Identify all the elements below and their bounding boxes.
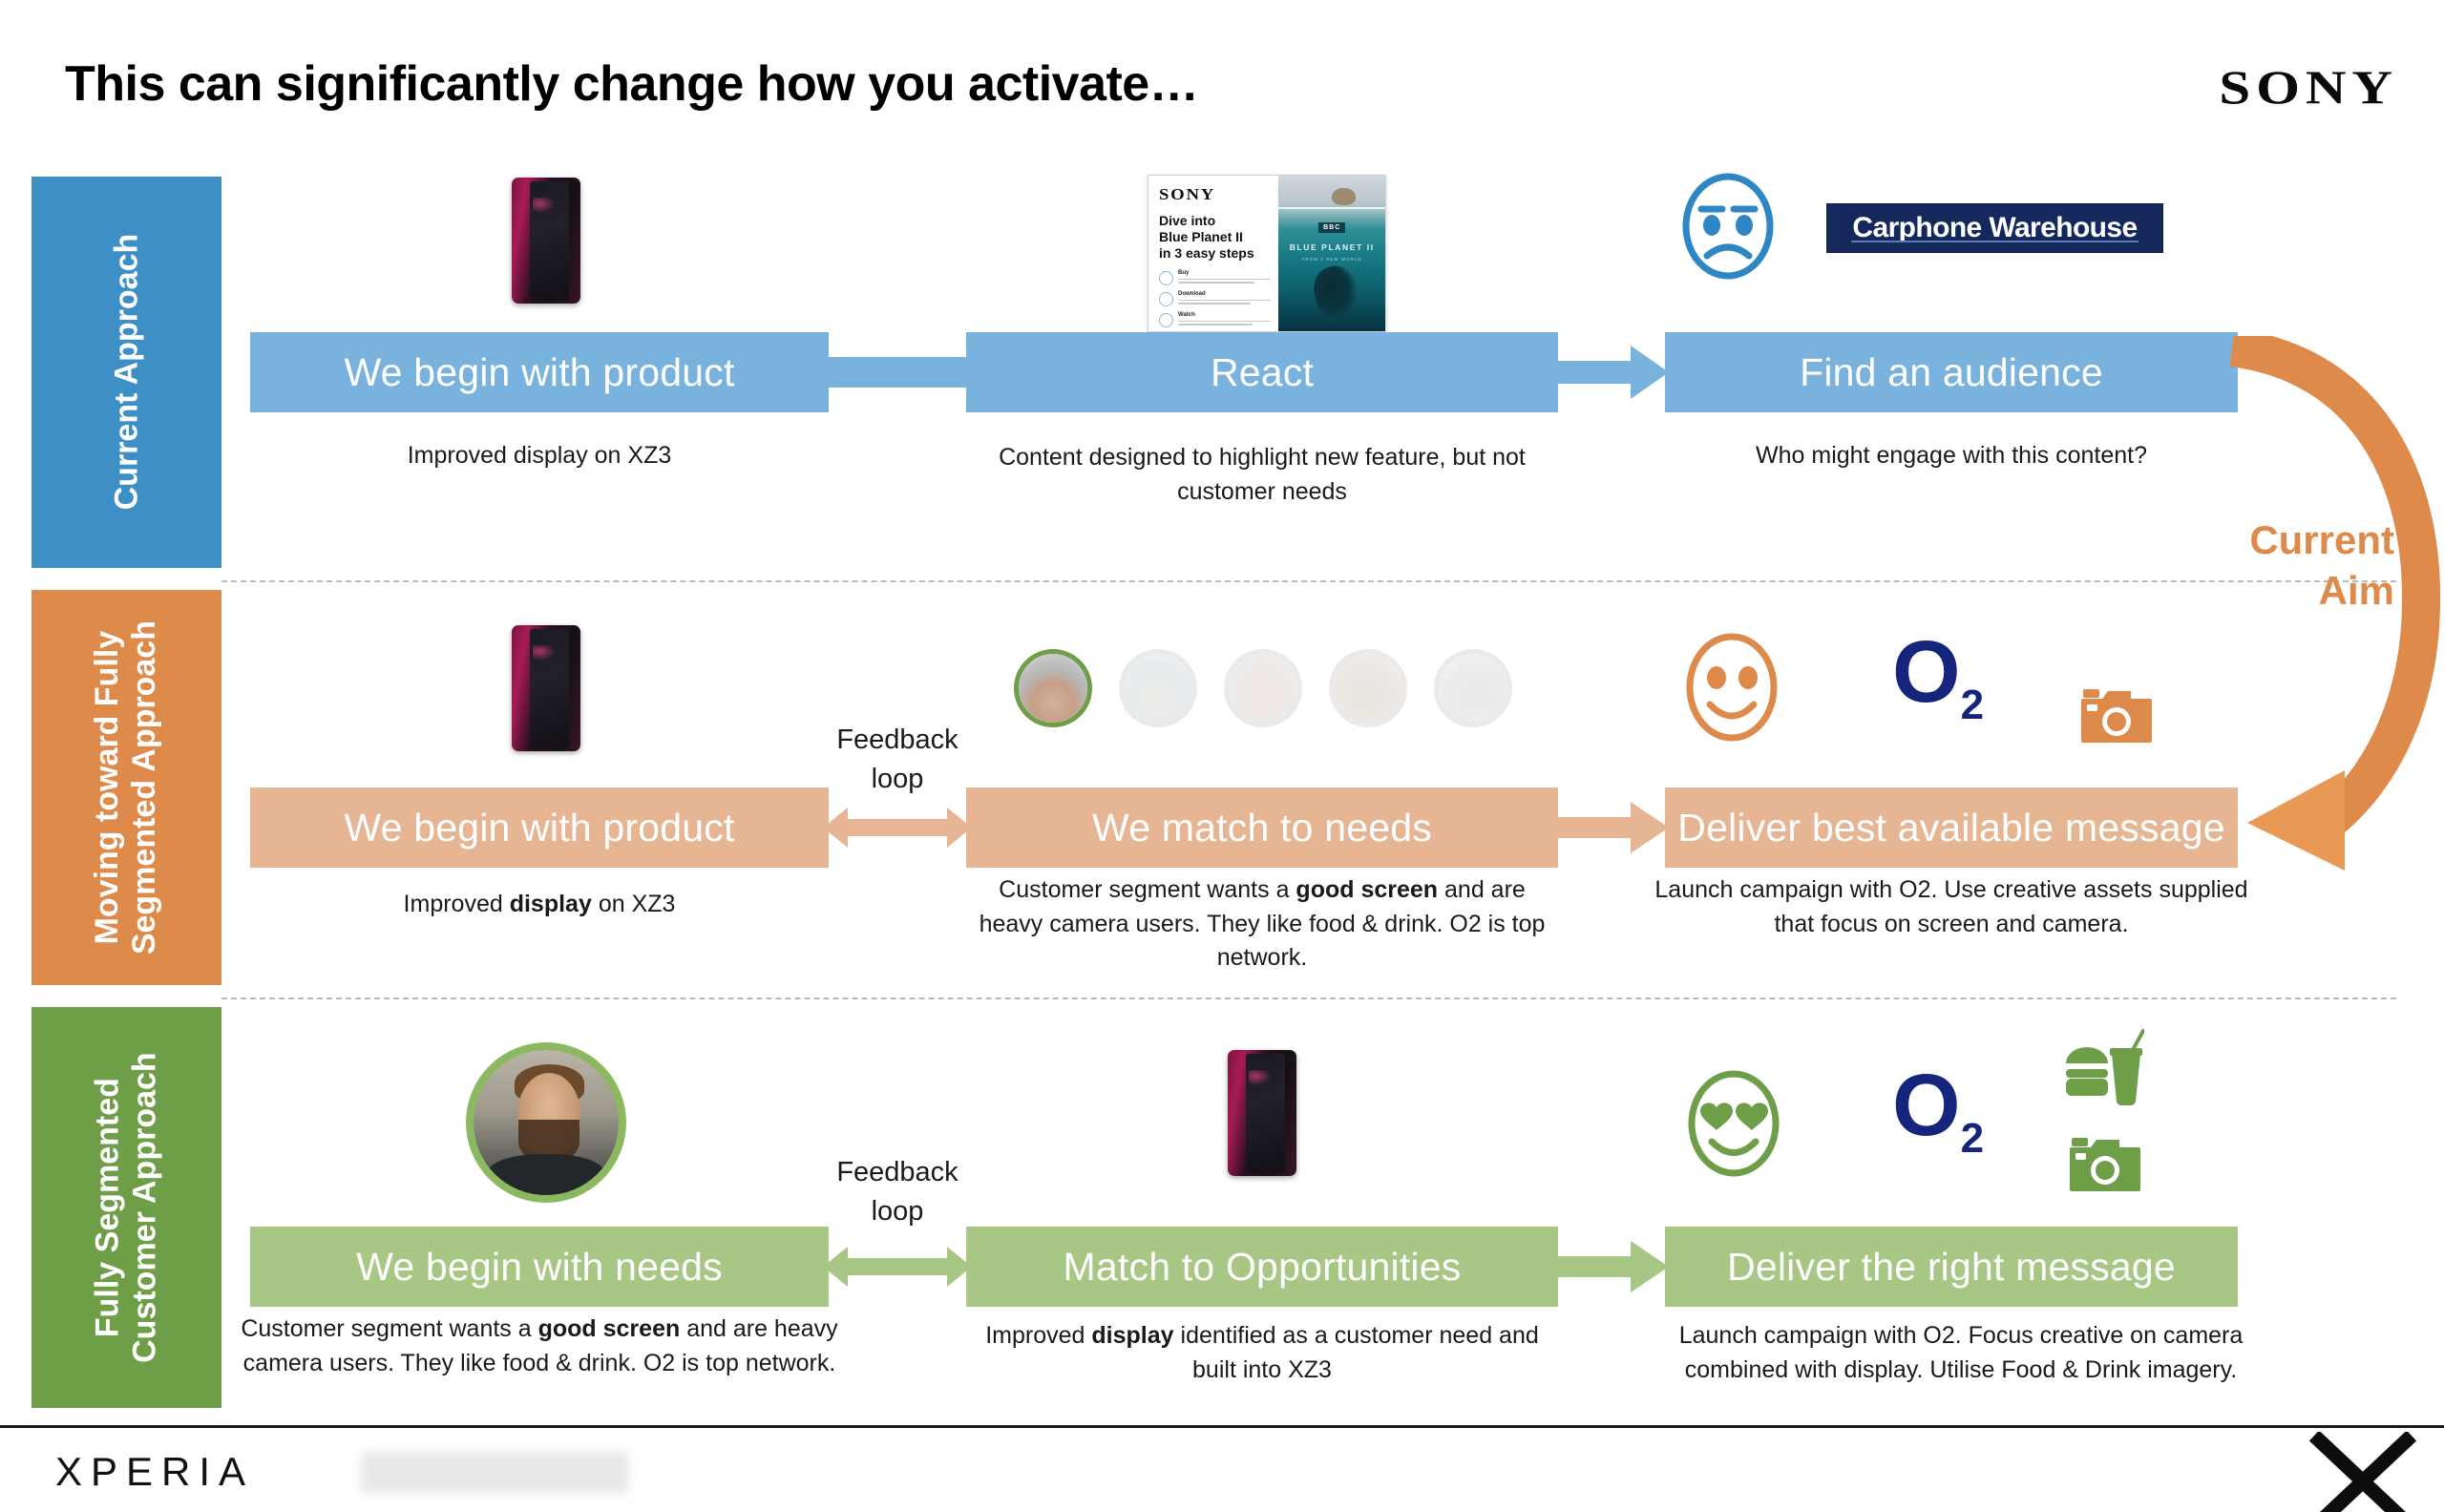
row-divider-1: [221, 580, 2396, 582]
caption-text-bold: good screen: [1296, 876, 1438, 903]
o2-network-logo: O2: [1892, 1071, 1984, 1163]
poster-subtitle: FROM A NEW WORLD: [1278, 257, 1385, 262]
blue-planet-brochure-image: SONY Dive into Blue Planet II in 3 easy …: [1148, 175, 1386, 332]
process-bar-label: Deliver best available message: [1677, 806, 2224, 850]
process-bar-we-begin-with-product-2[interactable]: We begin with product: [250, 787, 829, 868]
smiley-face-icon: [1680, 630, 1783, 749]
caption-row3-step-1: Customer segment wants a good screen and…: [241, 1312, 838, 1380]
xperia-wordmark: XPERIA: [55, 1449, 254, 1495]
heart-eyes-face-icon: [1682, 1067, 1785, 1185]
o2-letter: O: [1892, 1057, 1961, 1154]
caption-row3-step-3: Launch campaign with O2. Focus creative …: [1665, 1319, 2257, 1387]
caption-text-post: identified as a customer need and built …: [1174, 1322, 1539, 1383]
xperia-x-mark-icon: [2307, 1432, 2419, 1512]
play-icon: [1159, 313, 1173, 327]
process-bar-match-to-opportunities[interactable]: Match to Opportunities: [966, 1227, 1558, 1307]
o2-letter: O: [1892, 623, 1961, 721]
caption-text-post: on XZ3: [592, 891, 676, 917]
blue-planet-poster: BBC BLUE PLANET II FROM A NEW WORLD: [1278, 176, 1385, 331]
process-bar-we-begin-with-product[interactable]: We begin with product: [250, 332, 829, 412]
o2-subscript: 2: [1961, 1115, 1984, 1162]
caption-text: Launch campaign with O2. Focus creative …: [1679, 1322, 2244, 1383]
customer-photo-avatar: [466, 1042, 626, 1203]
row-divider-2: [221, 997, 2396, 999]
brochure-step-label: Watch: [1178, 312, 1271, 319]
process-bar-label: We begin with product: [344, 350, 734, 395]
process-bar-deliver-the-right-message[interactable]: Deliver the right message: [1665, 1227, 2238, 1307]
brochure-sony-logo: SONY: [1159, 185, 1282, 204]
poster-title: BLUE PLANET II: [1278, 242, 1385, 252]
process-bar-react[interactable]: React: [966, 332, 1558, 412]
feedback-loop-arrow-row3: [823, 1243, 972, 1295]
brochure-step-label: Download: [1178, 291, 1271, 298]
caption-step-1: Improved display on XZ3: [250, 439, 829, 473]
download-icon: [1159, 292, 1173, 306]
process-bar-deliver-best-available-message[interactable]: Deliver best available message: [1665, 787, 2238, 868]
caption-text-line-2: customer needs: [1177, 478, 1347, 505]
phone-outline-icon: [1159, 271, 1173, 285]
process-bar-label: We begin with product: [344, 806, 734, 850]
process-bar-label: Match to Opportunities: [1064, 1245, 1462, 1290]
caption-text-pre: Improved: [404, 891, 510, 917]
caption-row2-step-2: Customer segment wants a good screen and…: [966, 873, 1558, 976]
connector-arrow-row2-2-to-3: [1552, 802, 1669, 858]
caption-text-pre: Customer segment wants a: [241, 1315, 537, 1342]
caption-text-line-1: Content designed to highlight new featur…: [999, 444, 1526, 471]
camera-icon: [2081, 685, 2152, 749]
process-bar-label: We begin with needs: [356, 1245, 723, 1290]
xperia-phone-image: [512, 625, 580, 751]
sad-face-icon: [1676, 170, 1780, 287]
caption-text: Improved display on XZ3: [408, 442, 672, 469]
carphone-warehouse-logo: Carphone Warehouse: [1826, 203, 2163, 253]
connector-arrow-2-to-3: [1552, 346, 1669, 404]
brochure-headline-3: in 3 easy steps: [1159, 245, 1254, 261]
caption-text-bold: display: [510, 891, 592, 917]
food-drink-icon: [2062, 1029, 2144, 1112]
slide-canvas: This can significantly change how you ac…: [0, 0, 2444, 1512]
camera-icon: [2070, 1134, 2140, 1198]
xperia-phone-image: [1228, 1050, 1296, 1176]
bbc-badge: BBC: [1318, 222, 1345, 233]
footer-redacted-block: [361, 1452, 628, 1494]
caption-text: Launch campaign with O2. Use creative as…: [1654, 876, 2247, 937]
caption-row2-step-3: Launch campaign with O2. Use creative as…: [1644, 873, 2259, 941]
process-bar-label: Deliver the right message: [1727, 1245, 2176, 1290]
caption-text: Who might engage with this content?: [1756, 442, 2147, 469]
brochure-step: Buy: [1159, 270, 1271, 285]
sony-logo: SONY: [2219, 59, 2398, 115]
caption-text-pre: Improved: [985, 1322, 1091, 1349]
caption-text-pre: Customer segment wants a: [999, 876, 1296, 903]
avatar: [1119, 649, 1197, 727]
footer-divider: [0, 1425, 2444, 1428]
brochure-headline-1: Dive into: [1159, 213, 1215, 228]
feedback-loop-label-row3: Feedback loop: [823, 1153, 972, 1231]
brochure-headline-2: Blue Planet II: [1159, 229, 1243, 244]
brochure-step: Download: [1159, 291, 1271, 306]
row-band-label: Fully Segmented Customer Approach: [89, 1052, 163, 1363]
process-bar-we-begin-with-needs[interactable]: We begin with needs: [250, 1227, 829, 1307]
process-bar-label: We match to needs: [1092, 806, 1432, 850]
avatar: [1014, 649, 1092, 727]
o2-subscript: 2: [1961, 682, 1984, 728]
connector-arrow-1-to-2: [823, 357, 972, 392]
brochure-step-label: Buy: [1178, 270, 1271, 277]
connector-arrow-row3-2-to-3: [1552, 1241, 1669, 1297]
page-title: This can significantly change how you ac…: [65, 55, 1198, 113]
caption-row3-step-2: Improved display identified as a custome…: [966, 1319, 1558, 1387]
carphone-warehouse-label: Carphone Warehouse: [1852, 212, 2137, 244]
process-bar-find-an-audience[interactable]: Find an audience: [1665, 332, 2238, 412]
caption-step-3: Who might engage with this content?: [1665, 439, 2238, 473]
feedback-loop-arrow-row2: [823, 804, 972, 856]
avatar: [1329, 649, 1407, 727]
caption-text-bold: display: [1091, 1322, 1173, 1349]
process-bar-label: React: [1211, 350, 1314, 395]
o2-network-logo: O2: [1892, 638, 1984, 729]
caption-text-bold: good screen: [538, 1315, 681, 1342]
process-bar-we-match-to-needs[interactable]: We match to needs: [966, 787, 1558, 868]
xperia-phone-image: [512, 178, 580, 304]
row-band-label: Current Approach: [108, 234, 145, 511]
row-band-moving-toward-fully-segmented: Moving toward Fully Segmented Approach: [32, 590, 221, 985]
row-band-current-approach: Current Approach: [32, 177, 221, 568]
caption-step-2: Content designed to highlight new featur…: [966, 441, 1558, 509]
avatar: [1434, 649, 1512, 727]
feedback-loop-label-row2: Feedback loop: [823, 721, 972, 799]
current-aim-label: Current Aim: [2203, 515, 2394, 616]
process-bar-label: Find an audience: [1800, 350, 2103, 395]
caption-row2-step-1: Improved display on XZ3: [250, 888, 829, 922]
avatar: [1224, 649, 1302, 727]
row-band-fully-segmented-customer-approach: Fully Segmented Customer Approach: [32, 1007, 221, 1408]
row-band-label: Moving toward Fully Segmented Approach: [89, 620, 163, 955]
brochure-step: Watch: [1159, 312, 1271, 327]
